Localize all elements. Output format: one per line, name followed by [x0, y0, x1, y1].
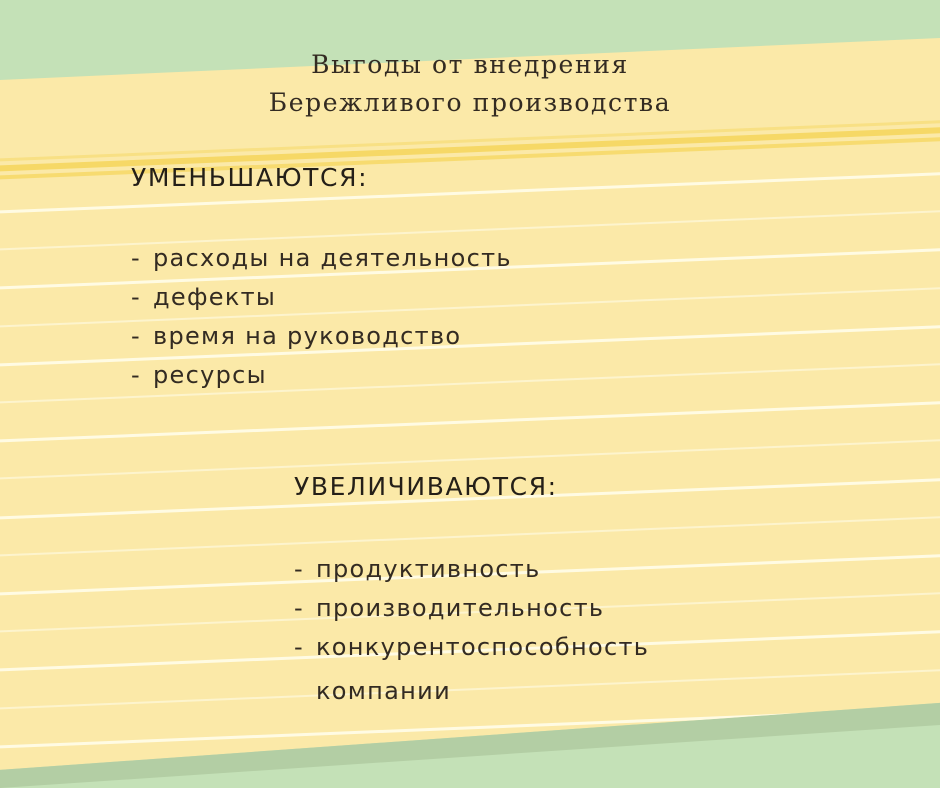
bullet-dash-icon: -	[131, 361, 153, 389]
section-decreases: УМЕНЬШАЮТСЯ: - расходы на деятельность -…	[131, 163, 512, 400]
list-item-label: продуктивность	[316, 555, 541, 583]
section-heading-increases: УВЕЛИЧИВАЮТСЯ:	[294, 472, 649, 501]
list-item-label: время на руководство	[153, 322, 461, 350]
list-item: - производительность	[294, 594, 649, 633]
list-item: - конкурентоспособность	[294, 633, 649, 672]
section-increases: УВЕЛИЧИВАЮТСЯ: - продуктивность - произв…	[294, 472, 649, 711]
list-item: - продуктивность	[294, 555, 649, 594]
list-item-label: ресурсы	[153, 361, 267, 389]
bullet-list-increases: - продуктивность - производительность - …	[294, 555, 649, 711]
list-item-continuation: компании	[294, 672, 649, 711]
bullet-list-decreases: - расходы на деятельность - дефекты - вр…	[131, 244, 512, 400]
bullet-dash-icon: -	[131, 244, 153, 272]
bullet-dash-icon: -	[131, 283, 153, 311]
bullet-dash-icon: -	[294, 594, 316, 622]
list-item-label: расходы на деятельность	[153, 244, 512, 272]
section-heading-decreases: УМЕНЬШАЮТСЯ:	[131, 163, 512, 192]
list-item: - расходы на деятельность	[131, 244, 512, 283]
list-item: - время на руководство	[131, 322, 512, 361]
page-title: Выгоды от внедрения Бережливого производ…	[0, 46, 940, 122]
slide: Выгоды от внедрения Бережливого производ…	[0, 0, 940, 788]
bullet-dash-icon: -	[131, 322, 153, 350]
bullet-dash-icon: -	[294, 555, 316, 583]
list-item-label: конкурентоспособность	[316, 633, 649, 661]
list-item: - дефекты	[131, 283, 512, 322]
bullet-dash-icon: -	[294, 633, 316, 661]
list-item-label: производительность	[316, 594, 604, 622]
list-item-label: дефекты	[153, 283, 276, 311]
list-item: - ресурсы	[131, 361, 512, 400]
